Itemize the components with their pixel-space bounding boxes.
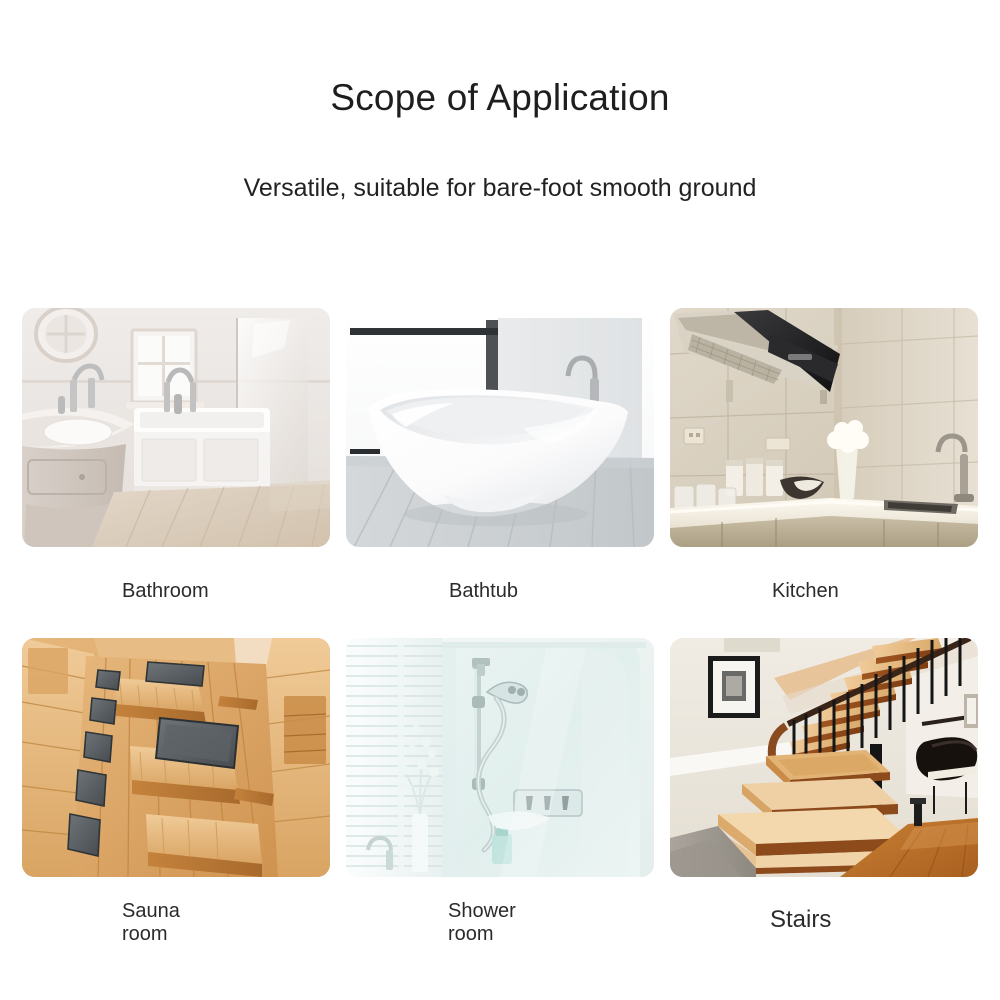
gallery-item-kitchen[interactable]: Kitchen xyxy=(670,308,978,638)
gallery-item-shower-room[interactable]: Shower room xyxy=(346,638,654,938)
kitchen-image[interactable] xyxy=(670,308,978,547)
gallery-item-stairs[interactable]: Stairs xyxy=(670,638,978,938)
heading-block: Scope of Application Versatile, suitable… xyxy=(0,0,1000,202)
scope-of-application-page: Scope of Application Versatile, suitable… xyxy=(0,0,1000,1000)
gallery-item-bathroom[interactable]: Bathroom xyxy=(22,308,330,638)
page-title: Scope of Application xyxy=(0,0,1000,119)
gallery-item-bathtub[interactable]: Bathtub xyxy=(346,308,654,638)
shower-room-image[interactable] xyxy=(346,638,654,877)
caption-stairs: Stairs xyxy=(770,908,1000,931)
page-subtitle: Versatile, suitable for bare-foot smooth… xyxy=(0,119,1000,203)
gallery-item-sauna-room[interactable]: Sauna room xyxy=(22,638,330,938)
bathroom-image[interactable] xyxy=(22,308,330,547)
application-gallery-grid: Bathroom xyxy=(22,308,978,938)
bathtub-image[interactable] xyxy=(346,308,654,547)
sauna-room-image[interactable] xyxy=(22,638,330,877)
stairs-image[interactable] xyxy=(670,638,978,877)
caption-kitchen: Kitchen xyxy=(772,580,1000,603)
